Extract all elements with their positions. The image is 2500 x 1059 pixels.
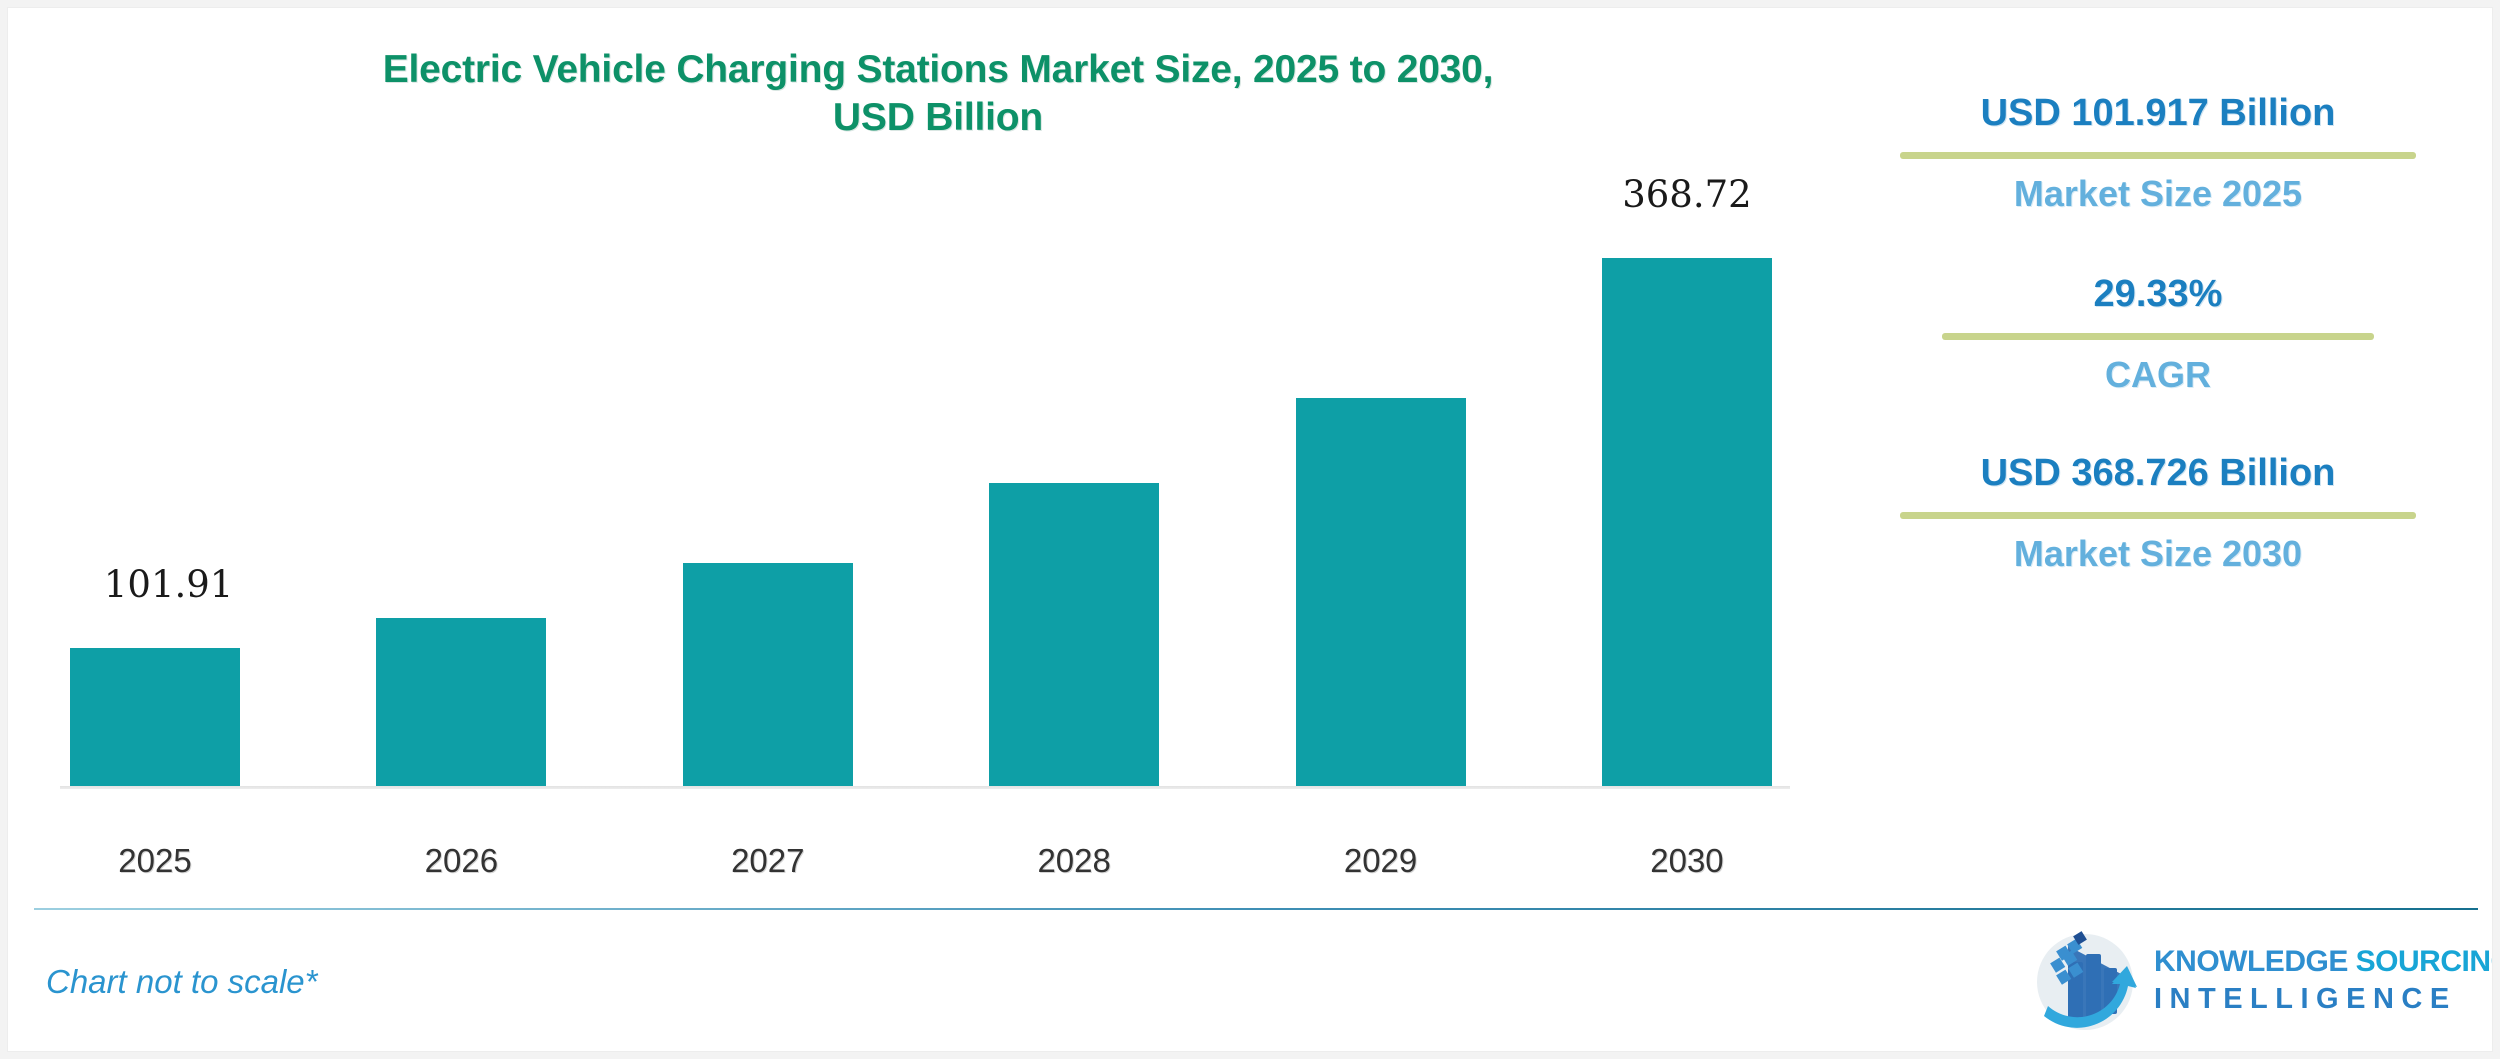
chart-title-line-1: Electric Vehicle Charging Stations Marke… xyxy=(383,48,1494,91)
x-tick-2030: 2030 xyxy=(1602,842,1772,880)
chart-title-line-2: USD Billion xyxy=(68,94,1808,142)
bar-2028[interactable] xyxy=(989,483,1159,788)
bar-group-2025[interactable]: 101.91 xyxy=(70,148,240,788)
bar-chart: 101.91 368.72 xyxy=(60,148,1790,828)
stat-value-cagr: 29.33% xyxy=(1858,273,2458,316)
x-tick-2029: 2029 xyxy=(1296,842,1466,880)
footer-divider xyxy=(34,908,2478,910)
stat-label-market-size-2025: Market Size 2025 xyxy=(1858,173,2458,215)
brand-logo-text: KNOWLEDGE SOURCING INTELLIGENCE xyxy=(2154,947,2492,1014)
stat-divider-2025 xyxy=(1900,152,2416,159)
stat-divider-2030 xyxy=(1900,512,2416,519)
logo-word-intelligence: INTELLIGENCE xyxy=(2154,985,2492,1014)
stat-divider-cagr xyxy=(1942,333,2374,340)
x-tick-2026: 2026 xyxy=(376,842,546,880)
stat-market-size-2025: USD 101.917 Billion Market Size 2025 xyxy=(1858,92,2458,215)
bar-2026[interactable] xyxy=(376,618,546,788)
logo-word-sourcing: SOURCING xyxy=(2348,945,2492,978)
chart-scale-note: Chart not to scale* xyxy=(46,963,317,1001)
x-tick-2027: 2027 xyxy=(683,842,853,880)
chart-title: Electric Vehicle Charging Stations Marke… xyxy=(68,46,1808,141)
chart-canvas: Electric Vehicle Charging Stations Marke… xyxy=(8,8,2492,1051)
bar-group-2028[interactable] xyxy=(989,148,1159,788)
bar-group-2027[interactable] xyxy=(683,148,853,788)
stat-label-cagr: CAGR xyxy=(1858,354,2458,396)
x-tick-2028: 2028 xyxy=(989,842,1159,880)
bar-2030[interactable] xyxy=(1602,258,1772,788)
bar-2029[interactable] xyxy=(1296,398,1466,788)
stats-panel: USD 101.917 Billion Market Size 2025 29.… xyxy=(1858,92,2458,613)
stat-cagr: 29.33% CAGR xyxy=(1858,273,2458,396)
bar-series: 101.91 368.72 xyxy=(70,148,1772,788)
stat-value-market-size-2025: USD 101.917 Billion xyxy=(1858,92,2458,135)
stat-label-market-size-2030: Market Size 2030 xyxy=(1858,533,2458,575)
bar-2027[interactable] xyxy=(683,563,853,788)
bar-value-label-2030: 368.72 xyxy=(1622,173,1751,216)
bar-group-2026[interactable] xyxy=(376,148,546,788)
bar-value-label-2025: 101.91 xyxy=(104,563,233,606)
bar-2025[interactable] xyxy=(70,648,240,788)
logo-word-knowledge: KNOWLEDGE xyxy=(2154,945,2348,978)
bar-group-2030[interactable]: 368.72 xyxy=(1602,148,1772,788)
bar-group-2029[interactable] xyxy=(1296,148,1466,788)
brand-logo[interactable]: KNOWLEDGE SOURCING INTELLIGENCE xyxy=(2028,920,2458,1040)
stat-market-size-2030: USD 368.726 Billion Market Size 2030 xyxy=(1858,452,2458,575)
plot-area: 101.91 368.72 xyxy=(60,148,1790,788)
x-axis-tick-labels: 2025 2026 2027 2028 2029 2030 xyxy=(70,842,1772,880)
x-tick-2025: 2025 xyxy=(70,842,240,880)
knowledge-sourcing-globe-icon xyxy=(2028,924,2140,1036)
x-axis-line xyxy=(60,786,1790,789)
stat-value-market-size-2030: USD 368.726 Billion xyxy=(1858,452,2458,495)
